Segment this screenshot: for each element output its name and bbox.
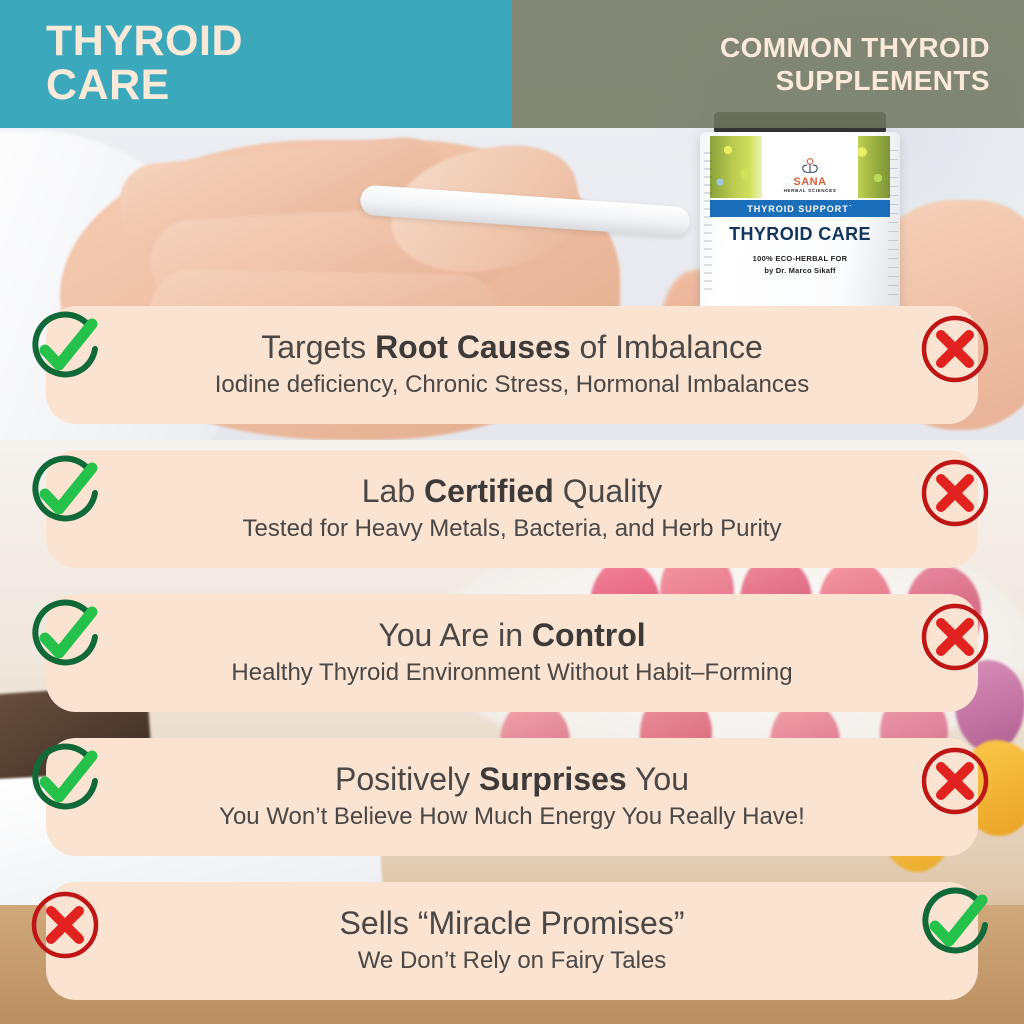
feature-subtext: You Won’t Believe How Much Energy You Re…	[219, 803, 805, 832]
x-icon	[26, 886, 104, 964]
thyroid-support-band: THYROID SUPPORT˙	[710, 200, 890, 217]
bottle-body: SANA HERBAL SCIENCES THYROID SUPPORT˙ TH…	[700, 132, 900, 322]
feature-subtext: We Don’t Rely on Fairy Tales	[358, 947, 667, 976]
comparison-row: Targets Root Causes of ImbalanceIodine d…	[0, 296, 1024, 440]
check-icon	[26, 454, 104, 532]
comparison-row: Lab Certified QualityTested for Heavy Me…	[0, 440, 1024, 584]
comparison-row: Positively Surprises YouYou Won’t Believ…	[0, 728, 1024, 872]
supplement-bottle: SANA HERBAL SCIENCES THYROID SUPPORT˙ TH…	[700, 118, 900, 318]
brand-block: SANA HERBAL SCIENCES	[762, 136, 858, 198]
sana-logo-icon	[799, 156, 821, 176]
header-left-line1: THYROID	[46, 20, 243, 64]
feature-subtext: Healthy Thyroid Environment Without Habi…	[231, 659, 792, 688]
feature-headline: Targets Root Causes of Imbalance	[261, 330, 763, 366]
header-right: COMMON THYROID SUPPLEMENTS	[512, 0, 1024, 128]
x-icon	[916, 310, 994, 388]
check-icon	[26, 742, 104, 820]
x-icon	[916, 598, 994, 676]
feature-headline: You Are in Control	[378, 618, 645, 654]
comparison-row: Sells “Miracle Promises”We Don’t Rely on…	[0, 872, 1024, 1016]
header-left: THYROID CARE	[0, 0, 512, 128]
feature-subtext: Iodine deficiency, Chronic Stress, Hormo…	[215, 371, 810, 400]
feature-headline: Lab Certified Quality	[362, 474, 663, 510]
check-icon	[916, 886, 994, 964]
label-side-ticks	[888, 150, 898, 300]
feature-pill: You Are in ControlHealthy Thyroid Enviro…	[46, 594, 978, 712]
feature-pill: Positively Surprises YouYou Won’t Believ…	[46, 738, 978, 856]
header-right-line1: COMMON THYROID	[720, 31, 990, 64]
header-right-line2: SUPPLEMENTS	[720, 64, 990, 97]
feature-pill: Lab Certified QualityTested for Heavy Me…	[46, 450, 978, 568]
feature-pill: Targets Root Causes of ImbalanceIodine d…	[46, 306, 978, 424]
label-side-text	[704, 152, 712, 292]
feature-subtext: Tested for Heavy Metals, Bacteria, and H…	[243, 515, 782, 544]
formula-line: 100% ECO-HERBAL FOR	[710, 254, 890, 263]
x-icon	[916, 454, 994, 532]
x-icon	[916, 742, 994, 820]
bottle-label-artwork: SANA HERBAL SCIENCES	[710, 136, 890, 198]
header-left-line2: CARE	[46, 64, 243, 108]
feature-pill: Sells “Miracle Promises”We Don’t Rely on…	[46, 882, 978, 1000]
brand-name: SANA	[793, 177, 826, 188]
comparison-infographic: SANA HERBAL SCIENCES THYROID SUPPORT˙ TH…	[0, 0, 1024, 1024]
brand-subtitle: HERBAL SCIENCES	[784, 188, 837, 195]
product-name: THYROID CARE	[710, 224, 890, 245]
feature-headline: Positively Surprises You	[335, 762, 689, 798]
check-icon	[26, 310, 104, 388]
author-line: by Dr. Marco Sikaff	[710, 266, 890, 275]
comparison-row: You Are in ControlHealthy Thyroid Enviro…	[0, 584, 1024, 728]
support-band-text: THYROID SUPPORT˙	[747, 204, 853, 214]
feature-headline: Sells “Miracle Promises”	[340, 906, 685, 942]
check-icon	[26, 598, 104, 676]
comparison-rows: Targets Root Causes of ImbalanceIodine d…	[0, 296, 1024, 1016]
